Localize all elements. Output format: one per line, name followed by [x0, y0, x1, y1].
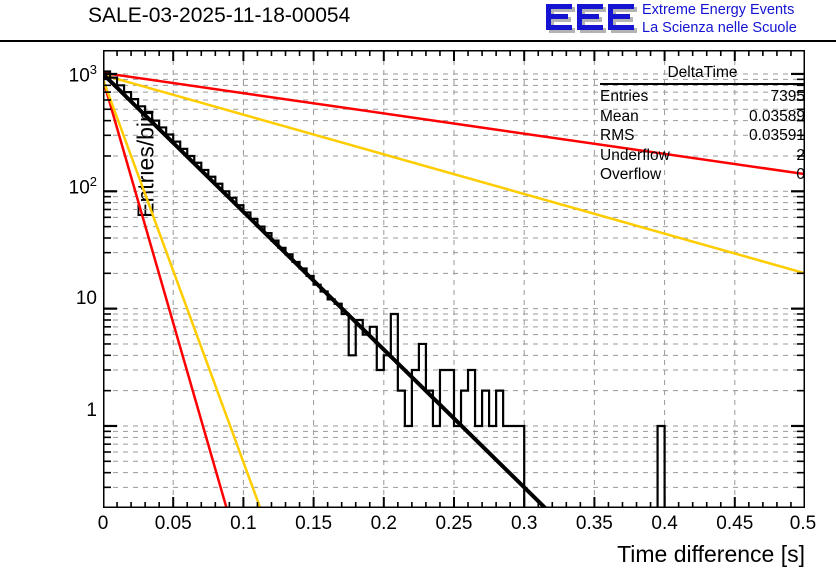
stats-value-rms: 0.03591 [749, 126, 805, 146]
fit-line [103, 74, 545, 508]
stats-row-overflow: Overflow 0 [600, 165, 805, 185]
x-tick-label-025: 0.25 [436, 513, 473, 535]
stats-value-underflow: 2 [796, 146, 805, 166]
chart-area: Entries/bin Time difference [s] 103 102 … [103, 50, 805, 508]
x-tick-label-045: 0.45 [716, 513, 753, 535]
x-tick-label-035: 0.35 [576, 513, 613, 535]
plot-canvas: SALE-03-2025-11-18-00054 [0, 0, 836, 572]
x-tick-label-005: 0.05 [155, 513, 192, 535]
stats-label-rms: RMS [600, 126, 634, 146]
stats-value-entries: 7395 [771, 87, 805, 107]
stats-title: DeltaTime [600, 64, 805, 83]
eee-logo-text: Extreme Energy Events La Scienza nelle S… [642, 1, 797, 37]
x-axis-label: Time difference [s] [617, 541, 805, 568]
eee-logo-line1: Extreme Energy Events [642, 1, 797, 19]
stats-divider [600, 83, 805, 85]
stats-box: DeltaTime Entries 7395 Mean 0.03589 RMS … [600, 64, 805, 185]
x-tick-label-0: 0 [98, 513, 109, 535]
x-tick-label-015: 0.15 [295, 513, 332, 535]
header-divider [0, 40, 836, 42]
stats-row-rms: RMS 0.03591 [600, 126, 805, 146]
stats-row-underflow: Underflow 2 [600, 146, 805, 166]
stats-label-entries: Entries [600, 87, 648, 107]
x-tick-label-02: 0.2 [371, 513, 397, 535]
eee-logo-icon [545, 2, 637, 37]
y-tick-label-1000: 103 [69, 62, 97, 87]
stats-value-overflow: 0 [796, 165, 805, 185]
stats-label-overflow: Overflow [600, 165, 661, 185]
y-tick-label-1: 1 [86, 400, 97, 422]
y-tick-label-100: 102 [69, 174, 97, 199]
page-title: SALE-03-2025-11-18-00054 [88, 4, 350, 28]
x-tick-label-03: 0.3 [511, 513, 537, 535]
stats-row-mean: Mean 0.03589 [600, 107, 805, 127]
x-tick-label-05: 0.5 [790, 513, 816, 535]
eee-logo-line2: La Scienza nelle Scuole [642, 19, 797, 37]
stats-label-underflow: Underflow [600, 146, 670, 166]
x-tick-label-04: 0.4 [651, 513, 677, 535]
stats-label-mean: Mean [600, 107, 639, 127]
x-tick-label-01: 0.1 [230, 513, 256, 535]
y-tick-label-10: 10 [76, 288, 97, 310]
eee-logo: Extreme Energy Events La Scienza nelle S… [545, 1, 833, 39]
stats-value-mean: 0.03589 [749, 107, 805, 127]
stats-row-entries: Entries 7395 [600, 87, 805, 107]
